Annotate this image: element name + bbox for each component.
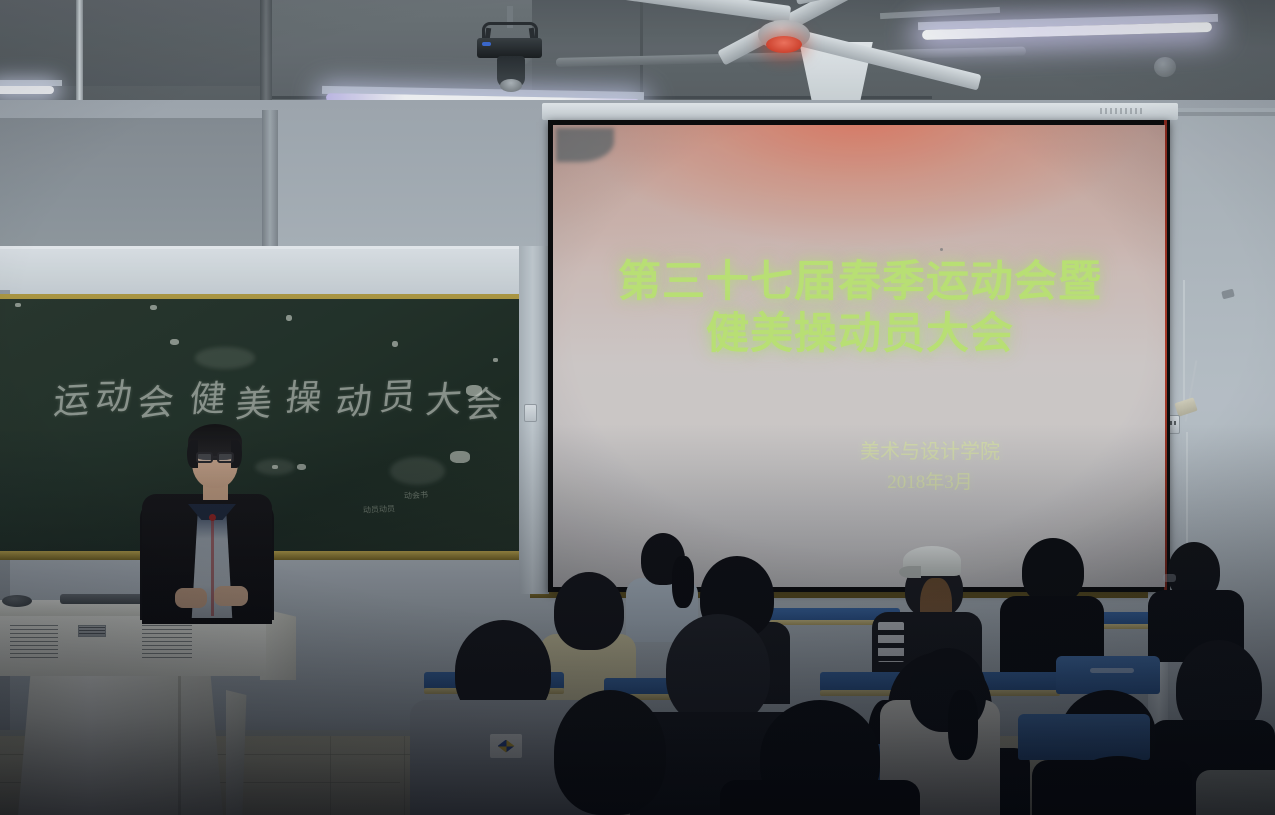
student-head [1070,756,1166,815]
badge-diamond-icon [498,740,515,753]
cap-brim [899,566,921,578]
blackboard-chalk-text: 运动会健美操动员大会 [54,368,474,416]
student-head [666,614,770,726]
wall-band-highlight [0,246,530,249]
speaker-zipper [211,516,214,616]
lectern-seam [178,676,181,815]
fluorescent-tube-icon [0,86,54,94]
slide-title-line-2: 健美操动员大会 [706,310,1014,358]
student-hair [672,556,694,608]
screen-pull-cord[interactable] [1183,280,1185,405]
slide-title: 第三十七届春季运动会暨 健美操动员大会 [560,256,1160,361]
student-body [1196,770,1275,815]
speaker-hand [214,586,248,606]
school-emblem-badge [490,734,522,758]
student-head [554,690,666,815]
chair-back [1018,714,1150,760]
fan-light-icon [766,36,802,53]
projector-icon [477,38,542,58]
speaker-hand [175,588,207,608]
slide-title-line-1: 第三十七届春季运动会暨 [618,258,1102,306]
projector-lens-icon [500,79,522,92]
chalk-character: 员 [377,367,419,420]
slide-organization: 美术与设计学院 [860,441,1000,463]
slide-subtitle: 美术与设计学院 2018年3月 [760,437,1100,497]
glasses-icon [217,452,234,463]
blackboard-corner-note: 动会书 [404,489,429,501]
lectern-name-plate-text [79,627,105,635]
ceiling-slab-left [0,0,300,86]
student-body [720,780,920,815]
blackboard-corner-note: 动员动员 [363,503,396,516]
chalk-character: 会 [136,373,176,427]
chalk-character: 会 [463,375,505,428]
chalk-character: 大 [424,370,465,424]
slide-date: 2018年3月 [760,468,1100,497]
screen-pull-cord[interactable] [1186,432,1188,552]
screen-roller-label [1100,108,1142,114]
student-head [1022,538,1084,604]
student-ponytail [948,690,978,760]
speaker-zipper-pull [209,514,216,521]
lectern-base [18,676,223,815]
glasses-bridge [212,456,218,458]
chair-handle-slot [1090,668,1134,673]
lectern-cable-port-icon[interactable] [2,595,32,607]
glasses-icon [1163,574,1176,582]
wall-switch-plate [524,404,537,422]
ceiling-junction-box-icon [1154,57,1176,77]
lectern-vent-grille [142,625,192,659]
ceiling-seam-vertical [640,0,643,96]
right-wall-seam [1168,112,1275,116]
chalk-character: 动 [334,372,374,426]
screen-roller-icon[interactable] [542,103,1178,120]
chair-back [1056,656,1160,694]
lectern-vent-grille [10,625,58,659]
screen-speck [940,248,943,251]
classroom-photo: 运动会健美操动员大会 动会书 动员动员 第三十七届春季运动会暨 健美操动员大会 … [0,0,1275,815]
chalk-character: 健 [187,369,229,422]
chalk-character: 运 [52,371,93,425]
student-head [554,572,624,650]
chalk-character: 动 [93,368,135,421]
projector-status-led [482,42,491,46]
left-wall-upper [0,118,272,258]
glasses-icon [196,452,213,463]
chalk-character: 操 [283,369,325,422]
chalk-character: 美 [234,374,275,428]
wall-band [0,246,530,294]
wall-column [262,110,278,260]
